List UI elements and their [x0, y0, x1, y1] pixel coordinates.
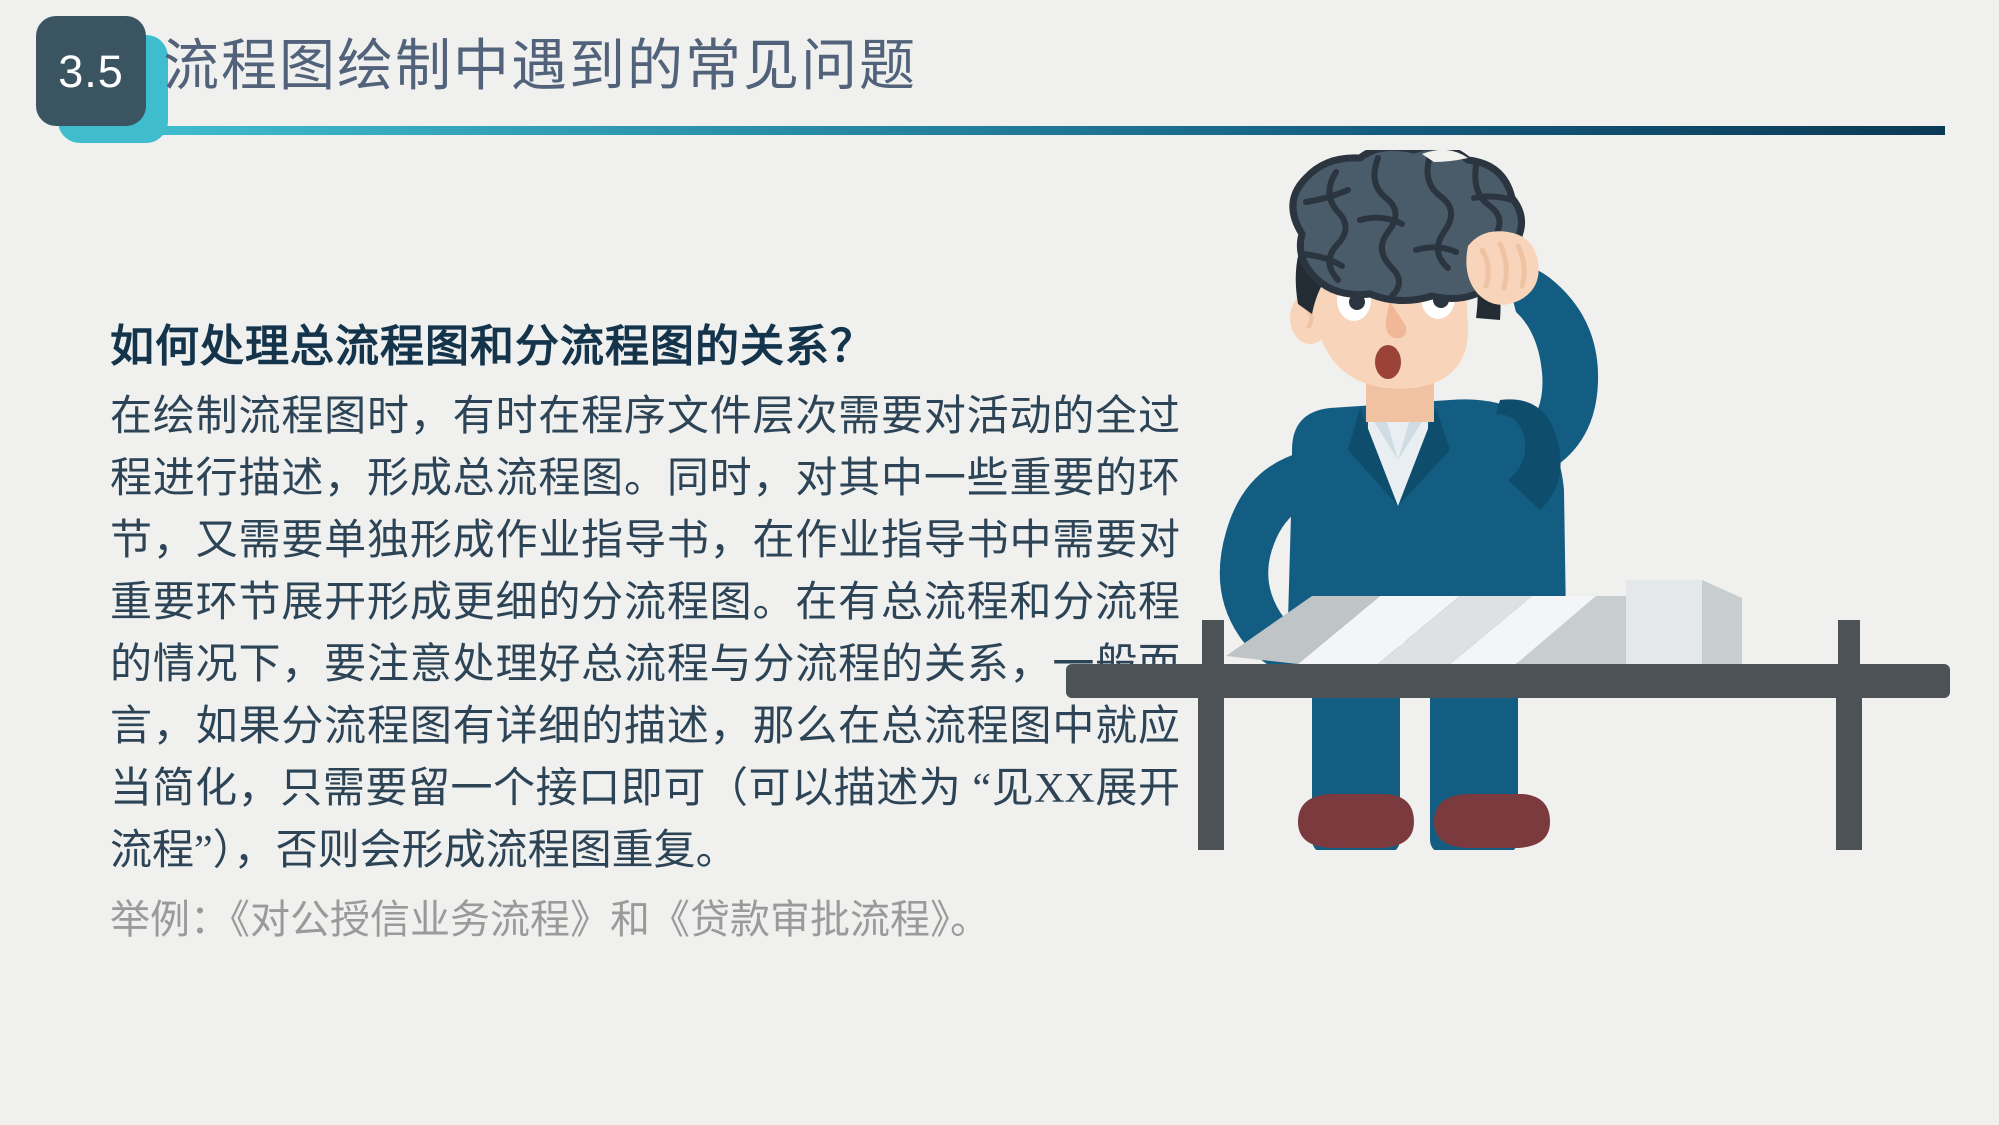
illustration-confused-man-with-brain	[1030, 150, 1990, 850]
content-example-note: 举例：《对公授信业务流程》和《贷款审批流程》。	[110, 890, 1180, 950]
title-underline-rule	[155, 126, 1945, 135]
content-question-heading: 如何处理总流程图和分流程图的关系？	[110, 318, 1180, 376]
section-number: 3.5	[58, 49, 124, 94]
man-shoes	[1298, 794, 1550, 848]
content-paragraph: 在绘制流程图时，有时在程序文件层次需要对活动的全过程进行描述，形成总流程图。同时…	[110, 386, 1180, 882]
content-block: 如何处理总流程图和分流程图的关系？ 在绘制流程图时，有时在程序文件层次需要对活动…	[110, 318, 1180, 950]
slide-header: 3.5 流程图绘制中遇到的常见问题	[0, 0, 1999, 150]
page-title: 流程图绘制中遇到的常见问题	[163, 34, 917, 98]
section-badge: 3.5	[36, 16, 146, 126]
